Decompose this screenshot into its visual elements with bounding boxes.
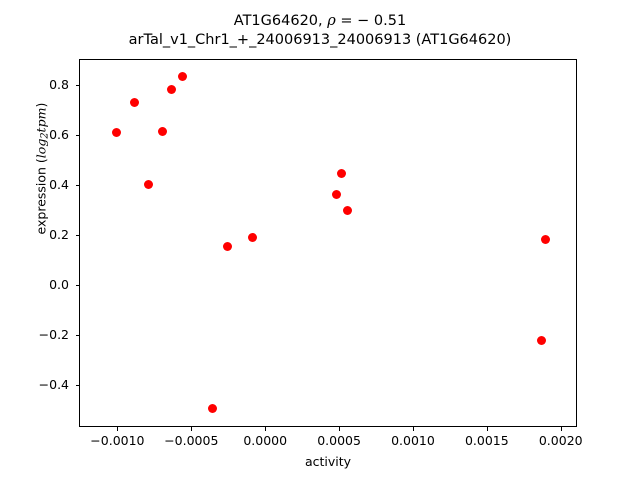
- ylabel-suffix: ): [33, 103, 48, 108]
- title-line-1: AT1G64620, ρ = − 0.51: [0, 12, 640, 31]
- y-tick-mark: [76, 385, 80, 386]
- x-tick-mark: [487, 427, 488, 431]
- data-point: [158, 127, 167, 136]
- x-axis-label: activity: [79, 454, 577, 469]
- y-tick-mark: [76, 285, 80, 286]
- data-point: [167, 85, 176, 94]
- rho-symbol: ρ: [327, 13, 336, 29]
- data-point: [537, 336, 546, 345]
- data-point: [130, 98, 139, 107]
- figure-title: AT1G64620, ρ = − 0.51 arTal_v1_Chr1_+_24…: [0, 12, 640, 50]
- plot-area: [79, 59, 577, 427]
- data-point: [541, 235, 550, 244]
- y-tick-mark: [76, 335, 80, 336]
- y-tick-mark: [76, 235, 80, 236]
- y-tick-label: −0.4: [0, 377, 69, 392]
- data-point: [208, 404, 217, 413]
- ylabel-log: log: [33, 139, 48, 159]
- y-axis-label: expression (log2tpm): [33, 44, 50, 294]
- title-gene-id: AT1G64620: [234, 13, 318, 29]
- data-point: [337, 169, 346, 178]
- ylabel-subscript: 2: [40, 132, 51, 138]
- y-tick-label: −0.2: [0, 327, 69, 342]
- x-tick-label: 0.0020: [516, 433, 606, 448]
- y-tick-mark: [76, 85, 80, 86]
- rho-value: − 0.51: [357, 13, 406, 29]
- title-line-2: arTal_v1_Chr1_+_24006913_24006913 (AT1G6…: [0, 31, 640, 50]
- x-tick-mark: [561, 427, 562, 431]
- data-point: [248, 233, 257, 242]
- rho-equals: =: [336, 13, 357, 29]
- ylabel-prefix: expression (: [33, 158, 48, 234]
- data-points-layer: [80, 60, 576, 426]
- y-tick-mark: [76, 185, 80, 186]
- x-tick-mark: [117, 427, 118, 431]
- data-point: [223, 242, 232, 251]
- ylabel-tpm: tpm: [33, 108, 48, 133]
- data-point: [112, 128, 121, 137]
- scatter-plot-figure: AT1G64620, ρ = − 0.51 arTal_v1_Chr1_+_24…: [0, 0, 640, 480]
- data-point: [343, 206, 352, 215]
- data-point: [332, 190, 341, 199]
- x-tick-mark: [265, 427, 266, 431]
- x-tick-mark: [413, 427, 414, 431]
- x-tick-mark: [339, 427, 340, 431]
- title-separator: ,: [318, 13, 327, 29]
- data-point: [178, 72, 187, 81]
- x-tick-mark: [191, 427, 192, 431]
- data-point: [144, 180, 153, 189]
- y-tick-mark: [76, 135, 80, 136]
